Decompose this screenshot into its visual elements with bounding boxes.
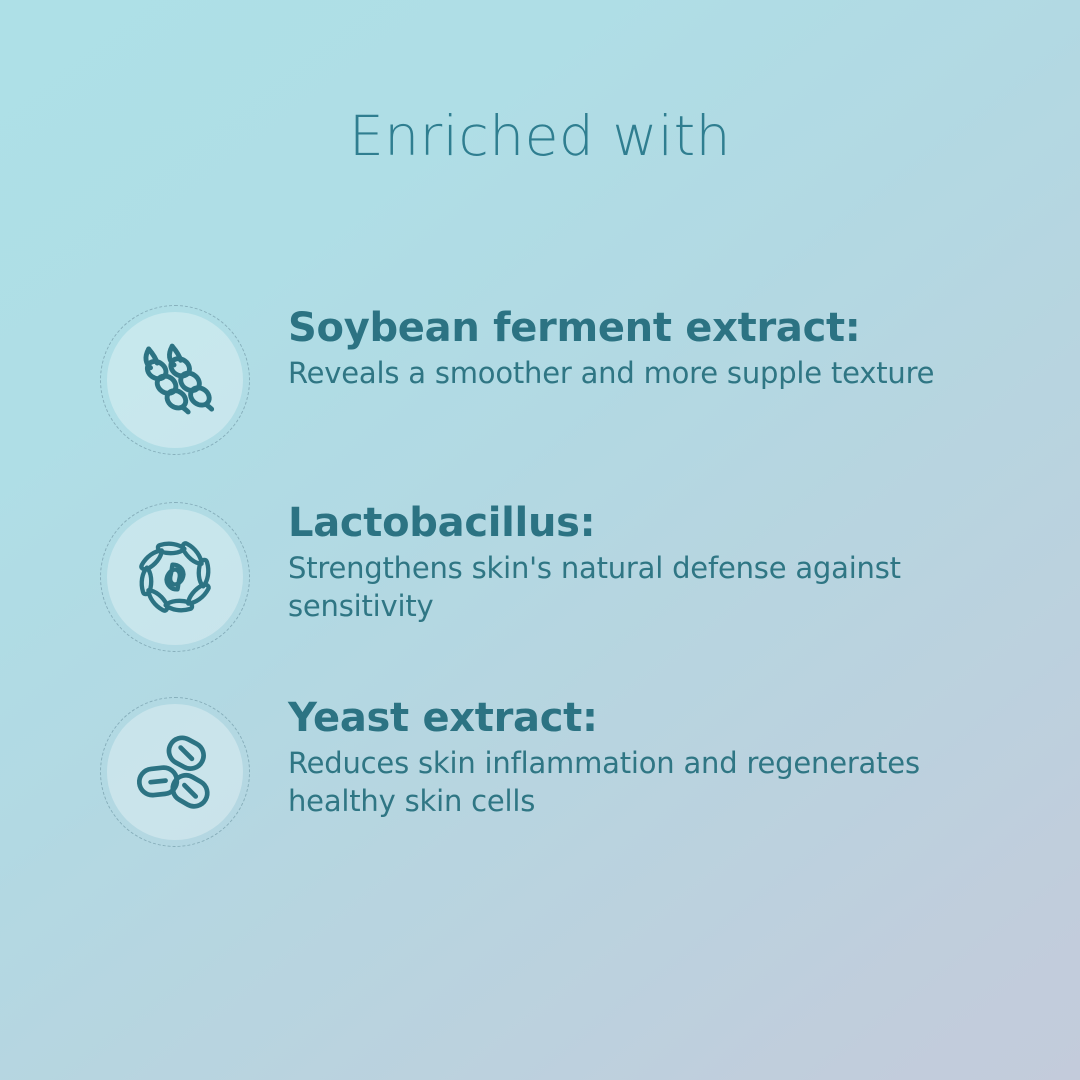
soybean-pods-icon (128, 333, 222, 427)
page-title: Enriched with (0, 104, 1080, 168)
ingredient-name: Yeast extract: (288, 697, 988, 739)
lactobacillus-bacteria-icon (128, 530, 222, 624)
list-item: Yeast extract: Reduces skin inflammation… (0, 695, 1080, 890)
ingredient-description: Strengthens skin's natural defense again… (288, 550, 948, 625)
ingredient-name: Lactobacillus: (288, 502, 988, 544)
ingredient-icon-badge (100, 697, 250, 847)
yeast-cells-icon (128, 725, 222, 819)
ingredient-icon-badge (100, 502, 250, 652)
ingredient-description: Reduces skin inflammation and regenerate… (288, 745, 948, 820)
ingredient-list: Soybean ferment extract: Reveals a smoot… (0, 305, 1080, 890)
ingredient-name: Soybean ferment extract: (288, 307, 988, 349)
list-item: Soybean ferment extract: Reveals a smoot… (0, 305, 1080, 500)
ingredient-description: Reveals a smoother and more supple textu… (288, 355, 948, 393)
ingredient-text: Soybean ferment extract: Reveals a smoot… (288, 305, 988, 393)
ingredient-icon-badge (100, 305, 250, 455)
list-item: Lactobacillus: Strengthens skin's natura… (0, 500, 1080, 695)
ingredient-text: Yeast extract: Reduces skin inflammation… (288, 695, 988, 820)
ingredient-text: Lactobacillus: Strengthens skin's natura… (288, 500, 988, 625)
enriched-with-poster: Enriched with (0, 0, 1080, 1080)
